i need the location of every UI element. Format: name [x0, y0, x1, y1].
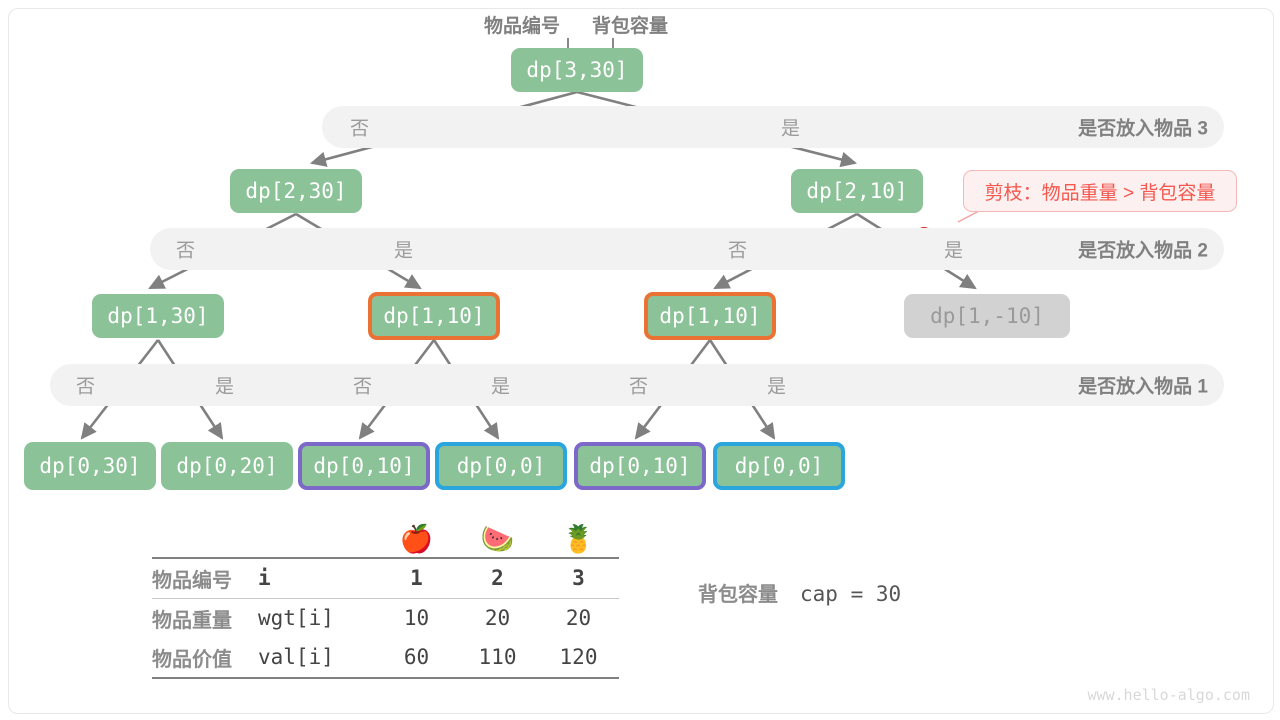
capacity-label: 背包容量: [698, 584, 778, 606]
tree-node-dp-1-10-right[interactable]: dp[1,10]: [644, 292, 776, 340]
level-title-1: 是否放入物品 1: [1078, 372, 1208, 399]
branch-label-yes: 是: [394, 236, 413, 263]
annotation-item-index: 物品编号: [484, 11, 560, 38]
row-key-val: val[i]: [252, 638, 376, 678]
cell-value-3: 120: [538, 638, 619, 678]
level-title-2: 是否放入物品 2: [1078, 236, 1208, 263]
tree-node-dp-1-minus10[interactable]: dp[1,-10]: [904, 294, 1070, 338]
table-row-weight: 物品重量 wgt[i] 10 20 20: [152, 598, 619, 638]
branch-label-no: 否: [629, 372, 648, 399]
tree-node-dp-2-30[interactable]: dp[2,30]: [230, 169, 362, 213]
tree-node-dp-1-30[interactable]: dp[1,30]: [92, 294, 224, 338]
row-label-item-weight: 物品重量: [152, 598, 252, 638]
icon-row-spacer: [152, 520, 252, 558]
cell-index-1: 1: [376, 558, 457, 599]
tree-node-dp-1-10-left[interactable]: dp[1,10]: [368, 292, 500, 340]
branch-label-yes: 是: [491, 372, 510, 399]
tree-node-dp-2-10[interactable]: dp[2,10]: [791, 169, 923, 213]
cell-weight-3: 20: [538, 598, 619, 638]
tree-node-dp-0-30[interactable]: dp[0,30]: [24, 442, 156, 490]
branch-label-no: 否: [176, 236, 195, 263]
branch-label-yes: 是: [944, 236, 963, 263]
level-band-1: 否 是 否 是 否 是 是否放入物品 1: [50, 364, 1224, 406]
table-row-index: 物品编号 i 1 2 3: [152, 558, 619, 599]
cell-index-2: 2: [457, 558, 538, 599]
annotation-capacity: 背包容量: [592, 11, 668, 38]
watermelon-icon: 🍉: [457, 520, 538, 558]
cell-weight-2: 20: [457, 598, 538, 638]
tree-node-dp-3-30[interactable]: dp[3,30]: [511, 48, 643, 92]
cell-value-2: 110: [457, 638, 538, 678]
icon-key-spacer: [252, 520, 376, 558]
watermark: www.hello-algo.com: [1087, 686, 1250, 704]
diagram-canvas: 物品编号 背包容量 否 是 是否放入物品 3 否 是 否 是 是否放入物品 2 …: [0, 0, 1280, 720]
capacity-value: cap = 30: [800, 582, 901, 606]
branch-label-no: 否: [728, 236, 747, 263]
cell-index-3: 3: [538, 558, 619, 599]
apple-icon: 🍎: [376, 520, 457, 558]
row-label-item-value: 物品价值: [152, 638, 252, 678]
table-row-value: 物品价值 val[i] 60 110 120: [152, 638, 619, 678]
branch-label-yes: 是: [781, 114, 800, 141]
table-row-icons: 🍎 🍉 🍍: [152, 520, 619, 558]
item-table: 🍎 🍉 🍍 物品编号 i 1 2 3 物品重量 wgt[i] 10 20 20 …: [152, 520, 619, 679]
branch-label-no: 否: [350, 114, 369, 141]
pineapple-icon: 🍍: [538, 520, 619, 558]
capacity-note: 背包容量cap = 30: [698, 578, 901, 607]
cell-weight-1: 10: [376, 598, 457, 638]
level-band-3: 否 是 是否放入物品 3: [322, 106, 1224, 148]
tree-node-dp-0-0-right[interactable]: dp[0,0]: [713, 442, 845, 490]
branch-label-yes: 是: [215, 372, 234, 399]
branch-label-no: 否: [353, 372, 372, 399]
row-label-item-index: 物品编号: [152, 558, 252, 599]
tree-node-dp-0-10-right[interactable]: dp[0,10]: [574, 442, 706, 490]
tree-node-dp-0-0-left[interactable]: dp[0,0]: [435, 442, 567, 490]
level-band-2: 否 是 否 是 是否放入物品 2: [150, 228, 1224, 270]
row-key-i: i: [252, 558, 376, 599]
tree-node-dp-0-20[interactable]: dp[0,20]: [161, 442, 293, 490]
branch-label-yes: 是: [767, 372, 786, 399]
row-key-wgt: wgt[i]: [252, 598, 376, 638]
level-title-3: 是否放入物品 3: [1078, 114, 1208, 141]
tree-node-dp-0-10-left[interactable]: dp[0,10]: [298, 442, 430, 490]
prune-callout: 剪枝：物品重量 > 背包容量: [963, 170, 1237, 212]
branch-label-no: 否: [76, 372, 95, 399]
cell-value-1: 60: [376, 638, 457, 678]
